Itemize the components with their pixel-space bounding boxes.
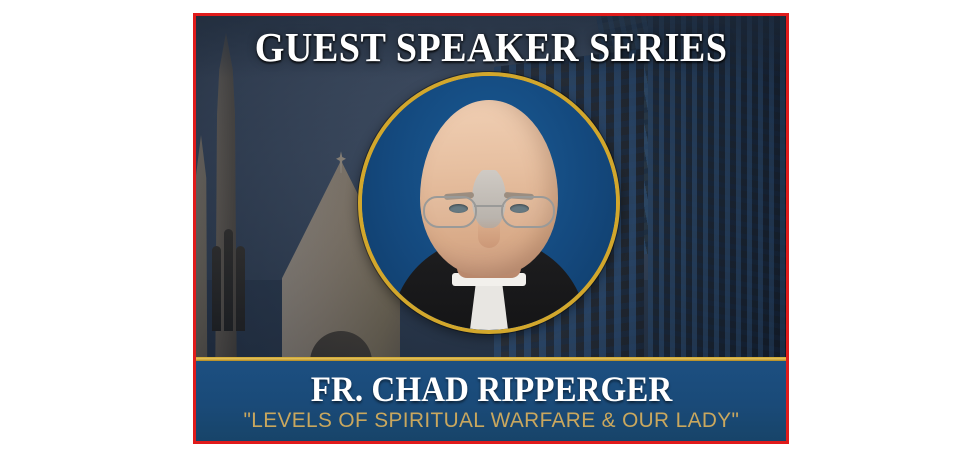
speaker-banner: FR. CHAD RIPPERGER "LEVELS OF SPIRITUAL … <box>196 361 786 441</box>
talk-title: "LEVELS OF SPIRITUAL WARFARE & OUR LADY" <box>243 410 739 431</box>
lens-left <box>423 196 477 228</box>
poster-frame: GUEST SPEAKER SERIES <box>193 13 789 444</box>
lens-right <box>501 196 555 228</box>
poster-canvas: GUEST SPEAKER SERIES <box>0 0 980 461</box>
speaker-portrait: Spiritual Maturity <box>358 72 620 334</box>
nose <box>478 218 500 248</box>
header-band: GUEST SPEAKER SERIES <box>196 16 786 78</box>
glasses-bridge <box>474 205 504 207</box>
speaker-name: FR. CHAD RIPPERGER <box>310 371 672 407</box>
page-title: GUEST SPEAKER SERIES <box>255 27 728 68</box>
